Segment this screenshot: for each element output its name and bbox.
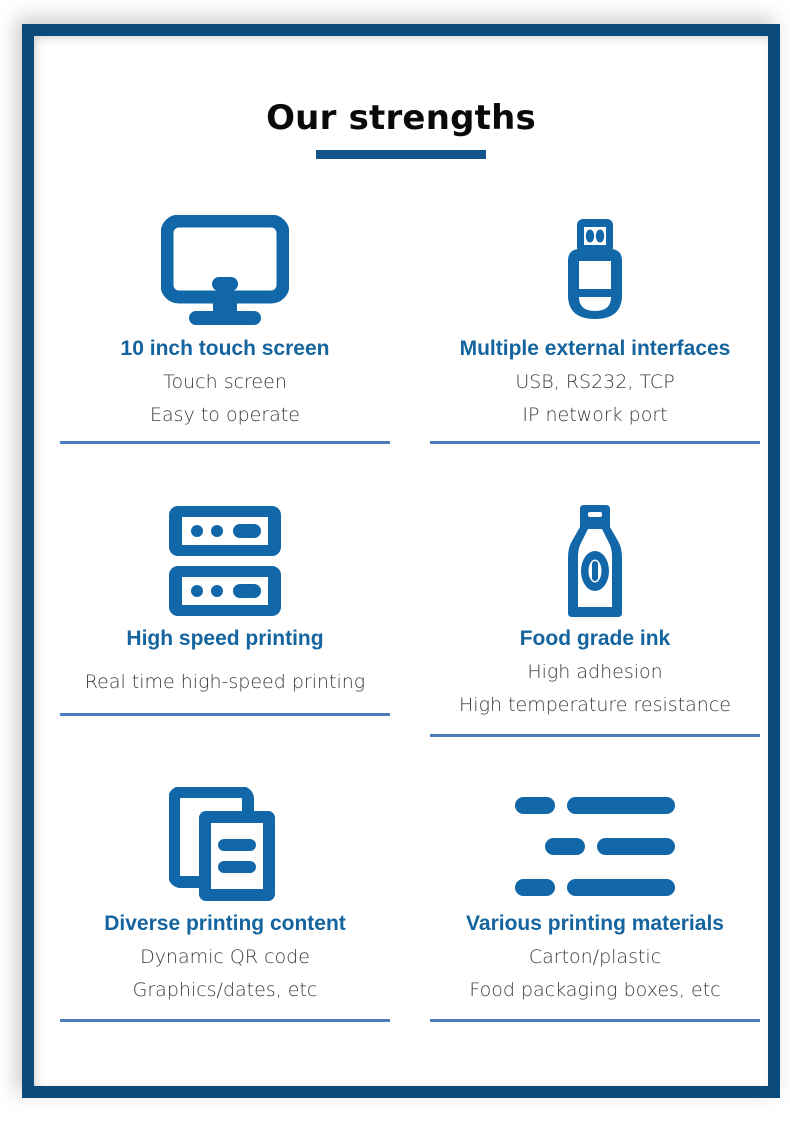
feature-line: High temperature resistance — [430, 689, 760, 722]
title-underline — [316, 150, 486, 159]
feature-line: Easy to operate — [60, 399, 390, 432]
feature-card: Food grade ink High adhesion High temper… — [430, 496, 760, 737]
feature-line: Carton/plastic — [430, 941, 760, 974]
feature-description: Touch screen Easy to operate — [60, 366, 390, 432]
feature-title: High speed printing — [60, 626, 390, 652]
feature-title: Diverse printing content — [60, 911, 390, 937]
feature-line: Graphics/dates, etc — [60, 974, 390, 1007]
feature-card: 10 inch touch screen Touch screen Easy t… — [60, 206, 390, 444]
feature-line: Real time high-speed printing — [60, 666, 390, 699]
feature-description: Dynamic QR code Graphics/dates, etc — [60, 941, 390, 1007]
page-title: Our strengths — [34, 98, 768, 138]
documents-icon — [60, 781, 390, 911]
feature-card: High speed printing Real time high-speed… — [60, 496, 390, 716]
feature-title: 10 inch touch screen — [60, 336, 390, 362]
feature-card: Diverse printing content Dynamic QR code… — [60, 781, 390, 1022]
feature-title: Multiple external interfaces — [430, 336, 760, 362]
feature-line: Food packaging boxes, etc — [430, 974, 760, 1007]
feature-line: High adhesion — [430, 656, 760, 689]
usb-icon — [430, 206, 760, 336]
feature-title: Food grade ink — [430, 626, 760, 652]
feature-line: Dynamic QR code — [60, 941, 390, 974]
feature-line: USB, RS232, TCP — [430, 366, 760, 399]
feature-description: Carton/plastic Food packaging boxes, etc — [430, 941, 760, 1007]
feature-divider — [60, 441, 390, 444]
feature-line: IP network port — [430, 399, 760, 432]
list-lines-icon — [430, 781, 760, 911]
feature-card: Multiple external interfaces USB, RS232,… — [430, 206, 760, 444]
feature-line: Touch screen — [60, 366, 390, 399]
feature-divider — [60, 1019, 390, 1022]
poster-page: Our strengths 10 inch touch screen Touch… — [0, 0, 790, 1126]
feature-title: Various printing materials — [430, 911, 760, 937]
title-block: Our strengths — [34, 98, 768, 159]
feature-description: High adhesion High temperature resistanc… — [430, 656, 760, 722]
ink-bottle-icon — [430, 496, 760, 626]
feature-card: Various printing materials Carton/plasti… — [430, 781, 760, 1022]
feature-divider — [430, 1019, 760, 1022]
poster-content: Our strengths 10 inch touch screen Touch… — [34, 36, 768, 1086]
feature-divider — [60, 713, 390, 716]
feature-description: Real time high-speed printing — [60, 666, 390, 699]
server-rack-icon — [60, 496, 390, 626]
monitor-icon — [60, 206, 390, 336]
feature-divider — [430, 734, 760, 737]
feature-description: USB, RS232, TCP IP network port — [430, 366, 760, 432]
feature-divider — [430, 441, 760, 444]
